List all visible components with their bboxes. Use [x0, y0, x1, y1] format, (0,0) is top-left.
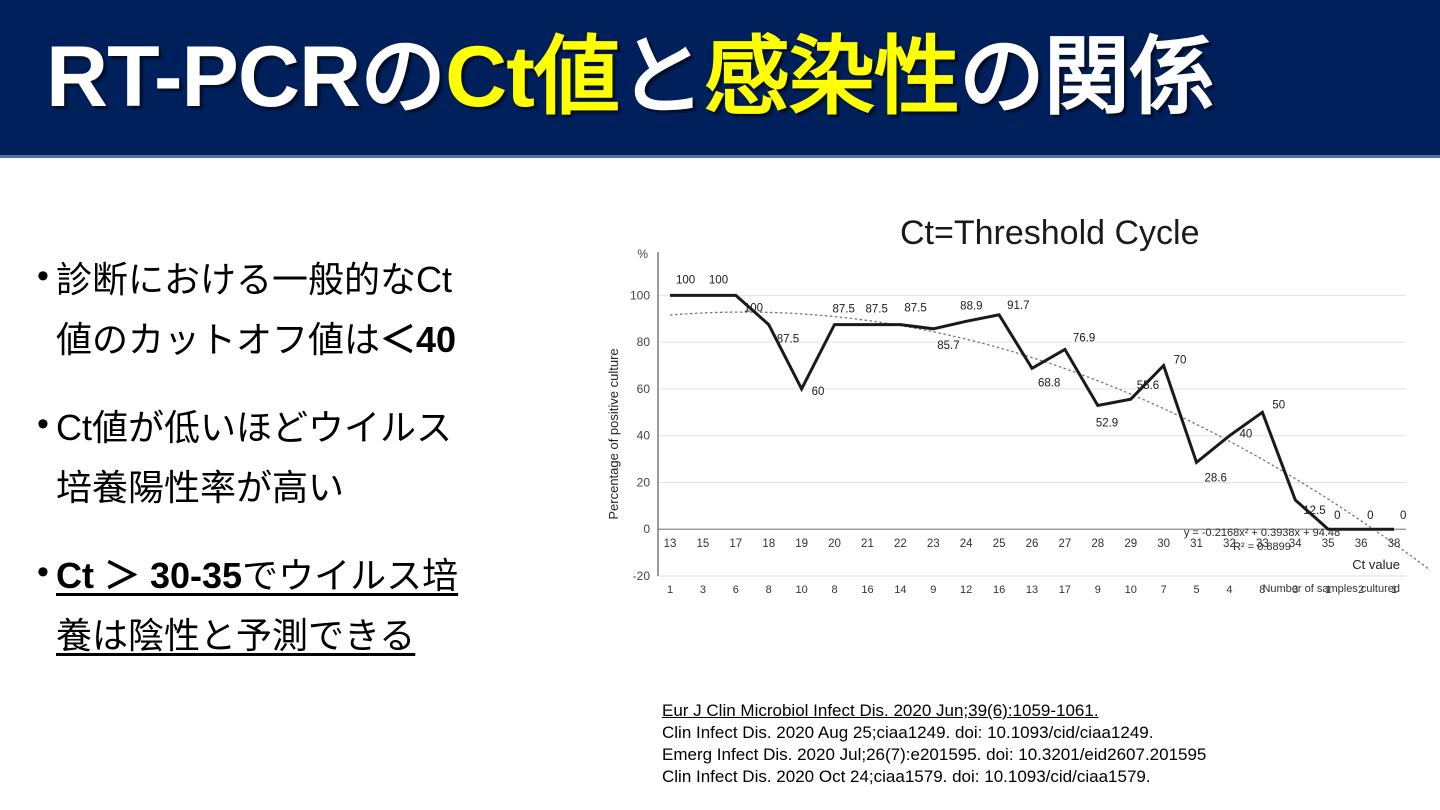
data-series-line [670, 295, 1394, 529]
slide-root: RT-PCRのCt値と感染性の関係 • 診断における一般的なCt 値のカットオフ… [0, 0, 1440, 810]
x-tick-label: 36 [1355, 538, 1368, 550]
bullet-dot-icon: • [30, 250, 56, 302]
x-tick-label: 31 [1190, 538, 1203, 550]
title-segment-4: 感染性 [704, 29, 959, 125]
data-point-label: 60 [812, 386, 825, 398]
data-point-label: 0 [1367, 510, 1373, 522]
data-point-label: 100 [709, 274, 728, 286]
bullet-head-bold: Ct ＞ 30-35 [56, 555, 242, 596]
data-point-label: 87.5 [904, 303, 926, 315]
x-tick-label: 24 [960, 538, 973, 550]
x-tick-label: 25 [993, 538, 1006, 550]
sample-count-label: 16 [993, 584, 1005, 596]
line-chart-svg: -20020406080100%Percentage of positive c… [600, 224, 1430, 674]
x-tick-label: 29 [1124, 538, 1137, 550]
data-point-label: 40 [1239, 429, 1252, 441]
bullet-text: Ct値が低いほどウイルス 培養陽性率が高い [56, 398, 590, 518]
bullet-line-1: Ct値が低いほどウイルス [56, 407, 452, 448]
x-tick-label: 28 [1091, 538, 1104, 550]
data-point-label: 68.8 [1038, 377, 1060, 389]
x-tick-label: 22 [894, 538, 907, 550]
citation-line: Clin Infect Dis. 2020 Aug 25;ciaa1249. d… [662, 722, 1422, 744]
trendline-equation: y = -0.2168x² + 0.3938x + 94.48 [1184, 527, 1340, 539]
bullet-dot-icon: • [30, 546, 56, 598]
sample-count-label: 9 [1095, 584, 1101, 596]
sample-count-label: 8 [831, 584, 837, 596]
x-axis-title: Ct value [1352, 557, 1400, 572]
sample-count-label: 8 [766, 584, 772, 596]
data-point-label: 91.7 [1007, 300, 1029, 312]
sample-count-label: 1 [667, 584, 673, 596]
x-tick-label: 26 [1026, 538, 1039, 550]
citation-line: Emerg Infect Dis. 2020 Jul;26(7):e201595… [662, 744, 1422, 766]
x-tick-label: 21 [861, 538, 874, 550]
data-point-label: 12.5 [1303, 505, 1325, 517]
data-point-label: 55.6 [1137, 380, 1159, 392]
title-segment-5: の関係 [959, 29, 1214, 125]
data-point-label: 100 [744, 302, 763, 314]
x-tick-label: 30 [1157, 538, 1170, 550]
chart-panel: Ct=Threshold Cycle -20020406080100%Perce… [600, 206, 1430, 676]
sample-count-label: 12 [960, 584, 972, 596]
trendline-r2: R² = 0.8899 [1233, 541, 1291, 553]
y-tick-label: 20 [637, 475, 651, 489]
x-tick-label: 17 [729, 538, 742, 550]
sample-count-label: 10 [1125, 584, 1137, 596]
data-point-label: 88.9 [960, 300, 982, 312]
title-segment-3: と [619, 29, 704, 125]
x-tick-label: 35 [1322, 538, 1335, 550]
chart-plot-area: -20020406080100%Percentage of positive c… [600, 224, 1430, 674]
bullet-line-2: 培養陽性率が高い [56, 467, 344, 508]
data-point-label: 52.9 [1096, 418, 1118, 430]
x-tick-label: 15 [697, 538, 710, 550]
title-segment-2: Ct値 [445, 29, 619, 125]
x-tick-label: 20 [828, 538, 841, 550]
bullet-line-1: 診断における一般的なCt [56, 259, 452, 300]
bullet-text: 診断における一般的なCt 値のカットオフ値は＜40 [56, 250, 590, 370]
data-point-label: 85.7 [937, 340, 959, 352]
y-tick-label: -20 [633, 569, 651, 583]
page-title: RT-PCRのCt値と感染性の関係 [46, 18, 1214, 136]
x-tick-label: 23 [927, 538, 940, 550]
sample-count-label: 16 [861, 584, 873, 596]
bullet-line-1: でウイルス培 [242, 555, 458, 596]
data-point-label: 100 [676, 274, 695, 286]
data-point-label: 0 [1334, 510, 1340, 522]
bullet-line-2: 値のカットオフ値は [56, 319, 380, 360]
list-item: • Ct値が低いほどウイルス 培養陽性率が高い [30, 398, 590, 518]
sample-count-label: 17 [1059, 584, 1071, 596]
sample-count-label: 9 [930, 584, 936, 596]
x-tick-label: 27 [1059, 538, 1072, 550]
x-tick-label: 13 [664, 538, 677, 550]
data-point-label: 28.6 [1205, 472, 1227, 484]
sample-count-label: 7 [1161, 584, 1167, 596]
data-point-label: 87.5 [777, 334, 799, 346]
list-item-emphasized: • Ct ＞ 30-35でウイルス培 養は陰性と予測できる [30, 546, 590, 666]
title-segment-1: RT-PCRの [46, 29, 445, 125]
data-point-label: 87.5 [833, 304, 855, 316]
x-tick-label: 18 [762, 538, 775, 550]
y-tick-label: 0 [643, 522, 650, 536]
sample-count-label: 13 [1026, 584, 1038, 596]
y-axis-unit: % [637, 247, 648, 261]
citation-line: Eur J Clin Microbiol Infect Dis. 2020 Ju… [662, 700, 1422, 722]
bullet-text: Ct ＞ 30-35でウイルス培 養は陰性と予測できる [56, 546, 590, 666]
y-tick-label: 80 [637, 335, 651, 349]
bullet-dot-icon: • [30, 398, 56, 450]
x-tick-label: 19 [795, 538, 808, 550]
x-tick-label: 38 [1388, 538, 1401, 550]
data-point-label: 70 [1174, 355, 1187, 367]
bullet-line-2: 養は陰性と予測できる [56, 615, 415, 656]
y-tick-label: 60 [637, 382, 651, 396]
sample-count-label: 6 [733, 584, 739, 596]
y-tick-label: 40 [637, 429, 651, 443]
sample-count-label: 4 [1226, 584, 1232, 596]
data-point-label: 87.5 [865, 304, 887, 316]
citation-block: Eur J Clin Microbiol Infect Dis. 2020 Ju… [662, 700, 1422, 788]
bullet-list: • 診断における一般的なCt 値のカットオフ値は＜40 • Ct値が低いほどウイ… [30, 250, 590, 694]
sample-count-label: 14 [894, 584, 906, 596]
sample-count-label: 3 [700, 584, 706, 596]
sample-count-label: 5 [1193, 584, 1199, 596]
citation-line: Clin Infect Dis. 2020 Oct 24;ciaa1579. d… [662, 766, 1422, 788]
data-point-label: 50 [1272, 399, 1285, 411]
y-tick-label: 100 [630, 288, 650, 302]
data-point-label: 0 [1400, 510, 1406, 522]
bullet-line-2-bold: ＜40 [380, 319, 456, 360]
slide-title-bar: RT-PCRのCt値と感染性の関係 [0, 0, 1440, 158]
sample-count-label: 10 [796, 584, 808, 596]
list-item: • 診断における一般的なCt 値のカットオフ値は＜40 [30, 250, 590, 370]
data-point-label: 76.9 [1073, 332, 1095, 344]
samples-axis-title: Number of samples cultured [1262, 583, 1400, 595]
y-axis-title: Percentage of positive culture [606, 348, 621, 519]
